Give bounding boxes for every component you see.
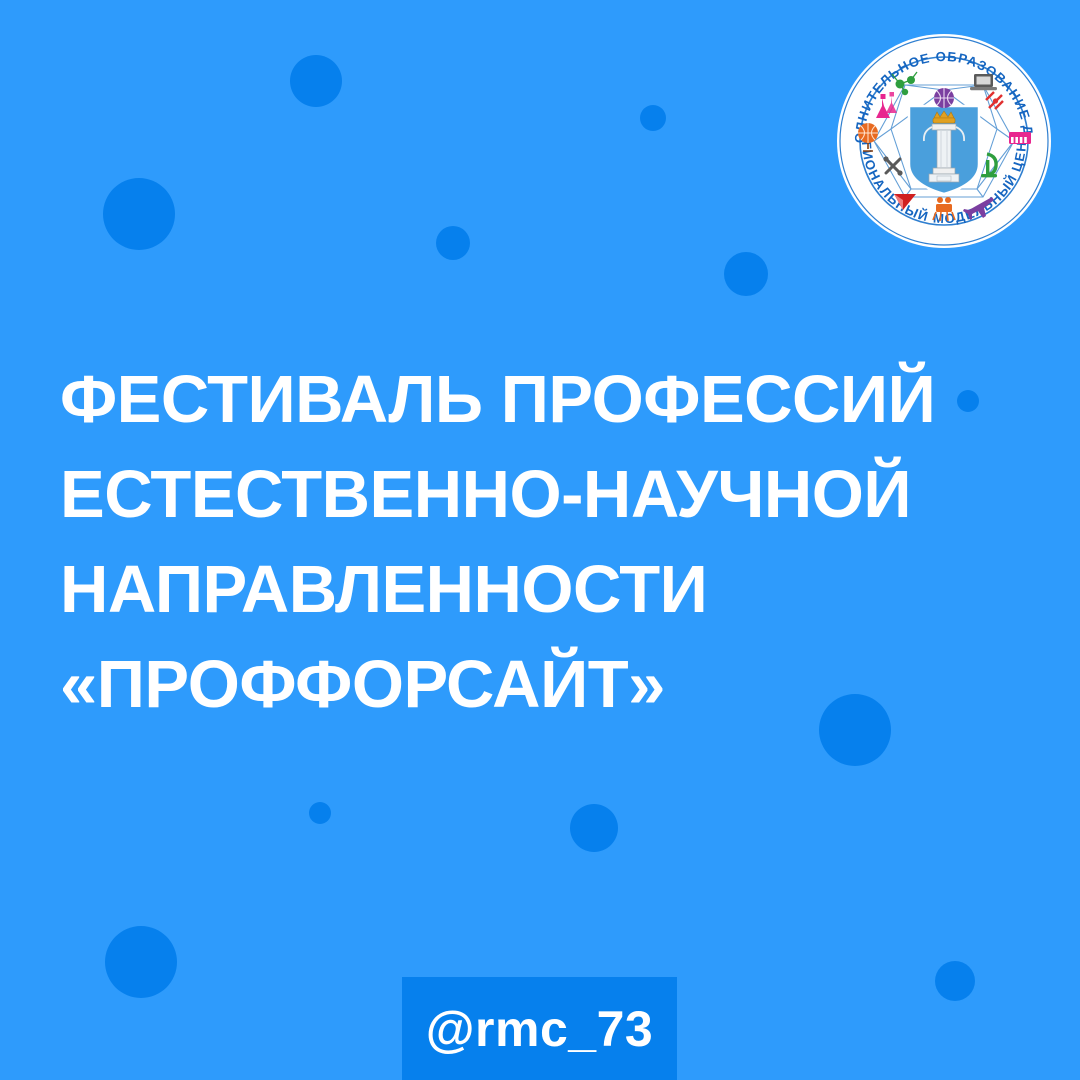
- decorative-dot: [724, 252, 768, 296]
- decorative-dot: [105, 926, 177, 998]
- ulyanovsk-coat-of-arms: [909, 106, 979, 194]
- headline-line-2: ЕСТЕСТВЕННО-НАУЧНОЙ: [60, 447, 940, 542]
- social-handle-banner: @rmc_73: [402, 977, 677, 1080]
- decorative-dot: [957, 390, 979, 412]
- rmc-logo: ДОПОЛНИТЕЛЬНОЕ ОБРАЗОВАНИЕ ДЕТЕЙ РЕГИОНА…: [837, 34, 1051, 248]
- social-handle-text: @rmc_73: [426, 1000, 653, 1058]
- headline-block: ФЕСТИВАЛЬ ПРОФЕССИЙ ЕСТЕСТВЕННО-НАУЧНОЙ …: [60, 352, 940, 732]
- decorative-dot: [103, 178, 175, 250]
- poster-canvas: ДОПОЛНИТЕЛЬНОЕ ОБРАЗОВАНИЕ ДЕТЕЙ РЕГИОНА…: [0, 0, 1080, 1080]
- headline-line-4: «ПРОФФОРСАЙТ»: [60, 637, 940, 732]
- decorative-dot: [570, 804, 618, 852]
- decorative-dot: [309, 802, 331, 824]
- headline-line-3: НАПРАВЛЕННОСТИ: [60, 542, 940, 637]
- decorative-dot: [290, 55, 342, 107]
- basketball-icon: [934, 88, 954, 108]
- piano-icon: [1009, 132, 1031, 144]
- decorative-dot: [436, 226, 470, 260]
- rmc-logo-svg: ДОПОЛНИТЕЛЬНОЕ ОБРАЗОВАНИЕ ДЕТЕЙ РЕГИОНА…: [837, 34, 1051, 248]
- laptop-icon: [970, 74, 997, 90]
- decorative-dot: [935, 961, 975, 1001]
- decorative-dot: [640, 105, 666, 131]
- headline-line-1: ФЕСТИВАЛЬ ПРОФЕССИЙ: [60, 352, 940, 447]
